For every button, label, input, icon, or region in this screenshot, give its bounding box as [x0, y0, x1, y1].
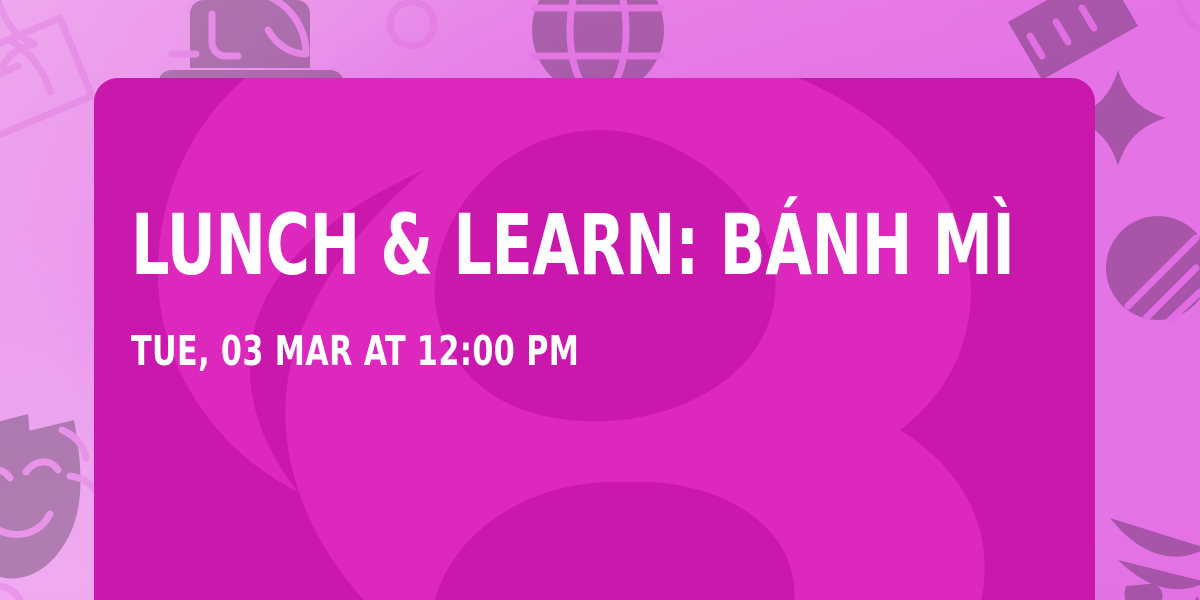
page-title: LUNCH & LEARN: BÁNH MÌ [131, 203, 851, 287]
ruler-pencil-icon [1008, 0, 1190, 80]
squiggle-line-icon [1110, 518, 1200, 600]
squiggle-line-icon [0, 586, 20, 600]
theatre-masks-icon [0, 414, 96, 579]
sparkle-icon [1176, 0, 1200, 32]
event-poster: LUNCH & LEARN: BÁNH MÌ TUE, 03 MAR AT 12… [0, 0, 1200, 600]
microphone-icon [1098, 216, 1200, 328]
ticket-icon [0, 18, 92, 138]
event-datetime: TUE, 03 MAR AT 12:00 PM [131, 331, 869, 372]
event-card: LUNCH & LEARN: BÁNH MÌ TUE, 03 MAR AT 12… [94, 78, 1095, 600]
star-burst-icon [0, 0, 34, 92]
card-text-block: LUNCH & LEARN: BÁNH MÌ TUE, 03 MAR AT 12… [131, 203, 1031, 372]
